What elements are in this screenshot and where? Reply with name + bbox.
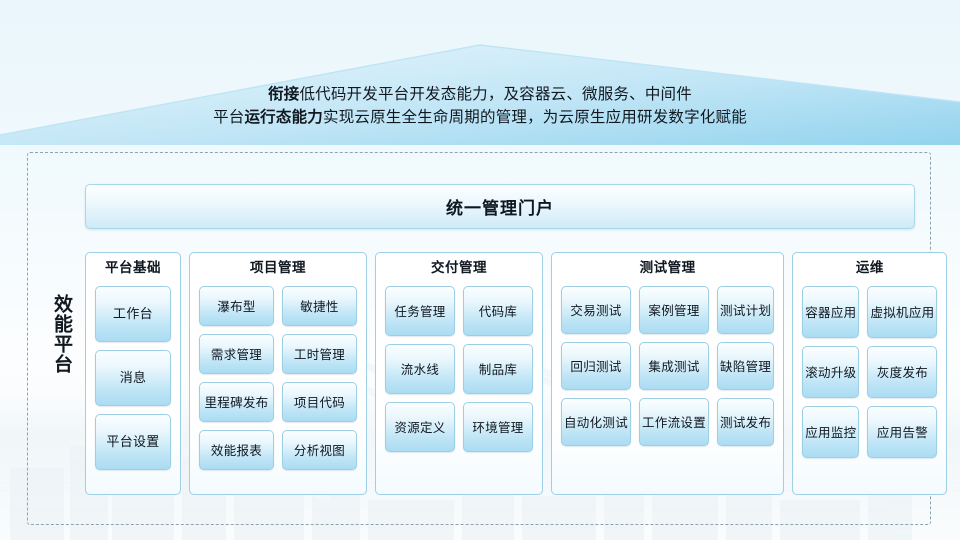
feature-tile[interactable]: 自动化测试 — [561, 398, 631, 446]
group-title: 项目管理 — [199, 260, 357, 277]
group-title: 测试管理 — [561, 260, 774, 277]
platform-side-label: 效能平台 — [38, 294, 72, 374]
roof-banner-text: 衔接低代码开发平台开发态能力，及容器云、微服务、中间件 平台运行态能力实现云原生… — [0, 83, 960, 129]
feature-tile[interactable]: 滚动升级 — [802, 346, 859, 398]
feature-tile[interactable]: 敏捷性 — [282, 286, 357, 326]
feature-tile[interactable]: 代码库 — [463, 286, 533, 336]
feature-tile[interactable]: 消息 — [95, 350, 171, 406]
unified-management-portal-bar[interactable]: 统一管理门户 — [85, 184, 915, 229]
feature-tile[interactable]: 效能报表 — [199, 430, 274, 470]
roof-line-2-rest: 实现云原生全生命周期的管理，为云原生应用研发数字化赋能 — [323, 108, 747, 126]
feature-tile[interactable]: 应用监控 — [802, 406, 859, 458]
feature-tile[interactable]: 瀑布型 — [199, 286, 274, 326]
feature-tile[interactable]: 应用告警 — [867, 406, 937, 458]
group-tile-grid: 交易测试案例管理测试计划回归测试集成测试缺陷管理自动化测试工作流设置测试发布 — [561, 286, 774, 485]
feature-tile[interactable]: 集成测试 — [639, 342, 709, 390]
feature-tile[interactable]: 流水线 — [385, 344, 455, 394]
roof-line-1-bold: 衔接 — [268, 85, 299, 103]
feature-tile[interactable]: 工作流设置 — [639, 398, 709, 446]
group-column-1: 平台基础工作台消息平台设置 — [85, 252, 181, 495]
group-title: 交付管理 — [385, 260, 533, 277]
diagram-canvas: 衔接低代码开发平台开发态能力，及容器云、微服务、中间件 平台运行态能力实现云原生… — [0, 0, 960, 540]
roof-line-2-bold: 运行态能力 — [244, 108, 323, 126]
group-tile-grid: 容器应用虚拟机应用滚动升级灰度发布应用监控应用告警 — [802, 286, 937, 485]
feature-tile[interactable]: 需求管理 — [199, 334, 274, 374]
feature-tile[interactable]: 任务管理 — [385, 286, 455, 336]
group-title: 运维 — [802, 260, 937, 277]
group-column-4: 测试管理交易测试案例管理测试计划回归测试集成测试缺陷管理自动化测试工作流设置测试… — [551, 252, 784, 495]
roof-line-2-prefix: 平台 — [213, 108, 244, 126]
feature-tile[interactable]: 交易测试 — [561, 286, 631, 334]
roof-line-1: 衔接低代码开发平台开发态能力，及容器云、微服务、中间件 — [0, 83, 960, 106]
group-column-2: 项目管理瀑布型敏捷性需求管理工时管理里程碑发布项目代码效能报表分析视图 — [189, 252, 367, 495]
group-tile-grid: 瀑布型敏捷性需求管理工时管理里程碑发布项目代码效能报表分析视图 — [199, 286, 357, 485]
feature-tile[interactable]: 工作台 — [95, 286, 171, 342]
roof-line-1-rest: 低代码开发平台开发态能力，及容器云、微服务、中间件 — [299, 85, 692, 103]
feature-tile[interactable]: 虚拟机应用 — [867, 286, 937, 338]
feature-tile[interactable]: 容器应用 — [802, 286, 859, 338]
feature-tile[interactable]: 项目代码 — [282, 382, 357, 422]
feature-tile[interactable]: 环境管理 — [463, 402, 533, 452]
group-title: 平台基础 — [95, 260, 171, 277]
group-column-3: 交付管理任务管理代码库流水线制品库资源定义环境管理 — [375, 252, 543, 495]
feature-tile[interactable]: 里程碑发布 — [199, 382, 274, 422]
feature-tile[interactable]: 测试计划 — [717, 286, 774, 334]
feature-tile[interactable]: 资源定义 — [385, 402, 455, 452]
feature-tile[interactable]: 测试发布 — [717, 398, 774, 446]
feature-tile[interactable]: 回归测试 — [561, 342, 631, 390]
roof-line-2: 平台运行态能力实现云原生全生命周期的管理，为云原生应用研发数字化赋能 — [0, 106, 960, 129]
feature-tile[interactable]: 制品库 — [463, 344, 533, 394]
group-tile-grid: 任务管理代码库流水线制品库资源定义环境管理 — [385, 286, 533, 485]
feature-tile[interactable]: 灰度发布 — [867, 346, 937, 398]
feature-tile[interactable]: 分析视图 — [282, 430, 357, 470]
capability-groups-row: 平台基础工作台消息平台设置项目管理瀑布型敏捷性需求管理工时管理里程碑发布项目代码… — [85, 252, 915, 495]
feature-tile[interactable]: 工时管理 — [282, 334, 357, 374]
portal-title: 统一管理门户 — [446, 194, 554, 219]
feature-tile[interactable]: 缺陷管理 — [717, 342, 774, 390]
feature-tile[interactable]: 案例管理 — [639, 286, 709, 334]
group-column-5: 运维容器应用虚拟机应用滚动升级灰度发布应用监控应用告警 — [792, 252, 947, 495]
feature-tile[interactable]: 平台设置 — [95, 414, 171, 470]
group-tile-grid: 工作台消息平台设置 — [95, 286, 171, 485]
